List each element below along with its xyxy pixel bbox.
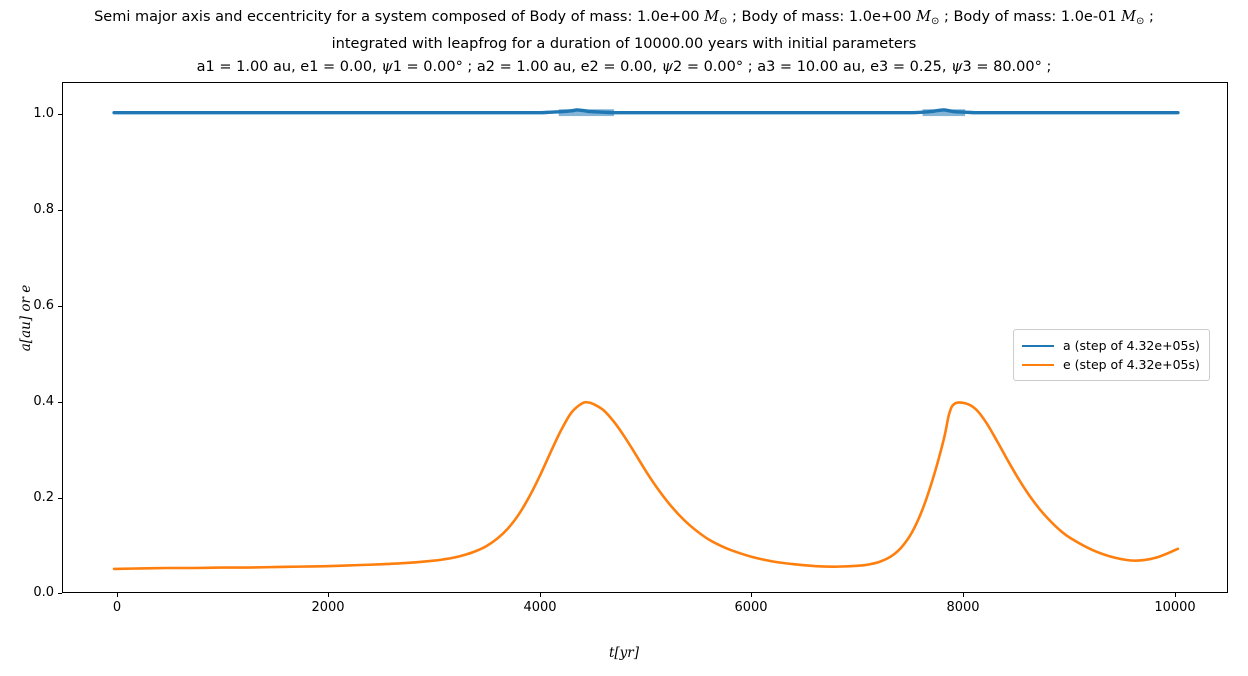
- figure-canvas: Semi major axis and eccentricity for a s…: [0, 0, 1248, 676]
- x-tick-label: 4000: [500, 600, 580, 615]
- x-tick-mark: [540, 593, 541, 597]
- title-line-3: a1 = 1.00 au, e1 = 0.00, ψ1 = 0.00° ; a2…: [0, 56, 1248, 79]
- x-tick-label: 6000: [711, 600, 791, 615]
- title-line-1-pre: Semi major axis and eccentricity for a s…: [94, 9, 704, 25]
- title-line-3-a: a1 = 1.00 au, e1 = 0.00,: [197, 59, 382, 75]
- title-line-3-b: 1 = 0.00° ; a2 = 1.00 au, e2 = 0.00,: [393, 59, 662, 75]
- psi-symbol-1: ψ: [381, 59, 392, 75]
- chart-title: Semi major axis and eccentricity for a s…: [0, 6, 1248, 79]
- x-tick-mark: [751, 593, 752, 597]
- title-line-1-mid-2: ; Body of mass: 1.0e-01: [939, 9, 1121, 25]
- legend-label-a: a (step of 4.32e+05s): [1063, 338, 1200, 353]
- series-e: [114, 402, 1178, 569]
- y-tick-label: 0.0: [0, 585, 54, 600]
- msun-symbol-1: M⊙: [704, 9, 727, 25]
- y-tick-mark: [58, 593, 62, 594]
- x-tick-label: 8000: [923, 600, 1003, 615]
- y-axis-label: a[au] or e: [18, 258, 34, 378]
- x-tick-mark: [963, 593, 964, 597]
- x-tick-mark: [1175, 593, 1176, 597]
- series-line-e: [114, 402, 1178, 569]
- y-tick-label: 1.0: [0, 106, 54, 121]
- y-tick-mark: [58, 498, 62, 499]
- y-tick-mark: [58, 402, 62, 403]
- x-tick-mark: [328, 593, 329, 597]
- x-tick-label: 10000: [1135, 600, 1215, 615]
- title-line-3-c: 2 = 0.00° ; a3 = 10.00 au, e3 = 0.25,: [673, 59, 951, 75]
- title-line-1: Semi major axis and eccentricity for a s…: [0, 6, 1248, 33]
- y-tick-mark: [58, 114, 62, 115]
- y-tick-mark: [58, 306, 62, 307]
- msun-symbol-2: M⊙: [916, 9, 939, 25]
- y-tick-label: 0.2: [0, 490, 54, 505]
- x-axis-label: t[yr]: [0, 645, 1248, 661]
- psi-symbol-2: ψ: [662, 59, 673, 75]
- msun-symbol-3: M⊙: [1121, 9, 1144, 25]
- x-tick-label: 2000: [288, 600, 368, 615]
- legend-box[interactable]: a (step of 4.32e+05s) e (step of 4.32e+0…: [1013, 329, 1210, 381]
- title-line-1-end: ;: [1144, 9, 1154, 25]
- y-tick-mark: [58, 210, 62, 211]
- x-tick-label: 0: [77, 600, 157, 615]
- legend-item-a[interactable]: a (step of 4.32e+05s): [1022, 336, 1200, 355]
- x-tick-mark: [117, 593, 118, 597]
- title-line-1-mid-1: ; Body of mass: 1.0e+00: [727, 9, 916, 25]
- title-line-2: integrated with leapfrog for a duration …: [0, 33, 1248, 56]
- series-a: [114, 109, 1178, 116]
- legend-line-swatch-a: [1022, 345, 1054, 347]
- legend-label-e: e (step of 4.32e+05s): [1063, 357, 1200, 372]
- legend-line-swatch-e: [1022, 364, 1054, 366]
- y-tick-label: 0.4: [0, 394, 54, 409]
- series-line-a: [114, 110, 1178, 113]
- legend-item-e[interactable]: e (step of 4.32e+05s): [1022, 355, 1200, 374]
- y-tick-label: 0.8: [0, 202, 54, 217]
- title-line-3-d: 3 = 80.00° ;: [963, 59, 1052, 75]
- psi-symbol-3: ψ: [951, 59, 962, 75]
